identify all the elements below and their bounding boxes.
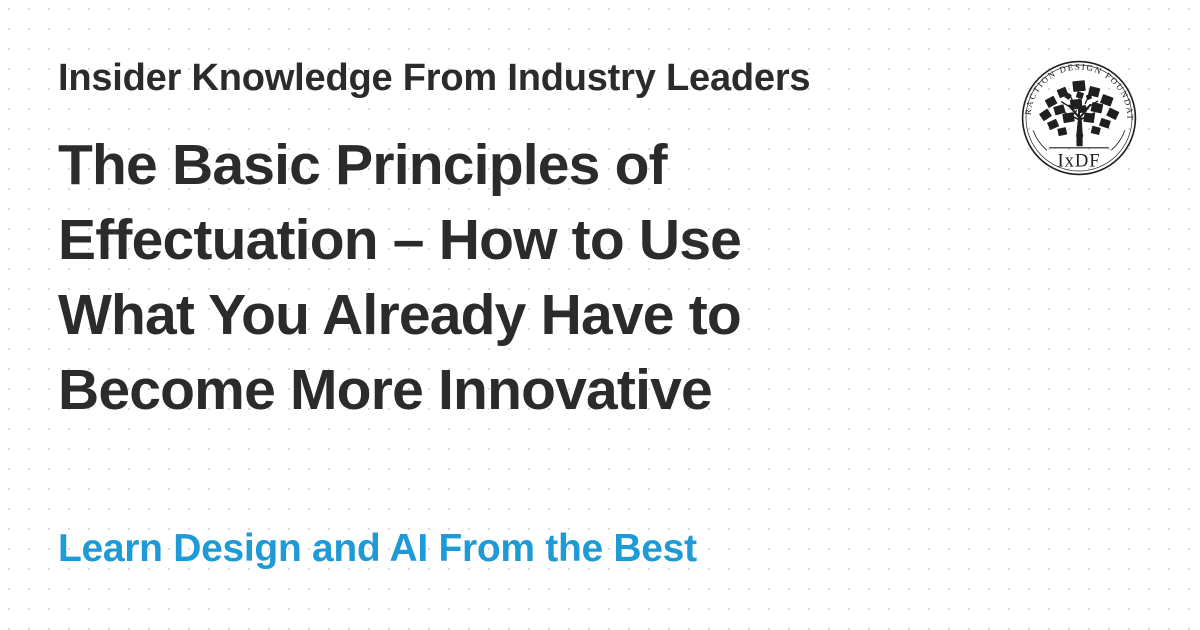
page-title: The Basic Principles of Effectuation – H… bbox=[58, 128, 848, 428]
cta-tagline: Learn Design and AI From the Best bbox=[58, 527, 697, 572]
article-share-card: Insider Knowledge From Industry Leaders … bbox=[0, 0, 1200, 630]
eyebrow-text: Insider Knowledge From Industry Leaders bbox=[58, 59, 810, 97]
logo-wordmark: IxDF bbox=[1058, 150, 1101, 171]
ixdf-logo: INTERACTION DESIGN FOUNDATION bbox=[1017, 54, 1141, 182]
